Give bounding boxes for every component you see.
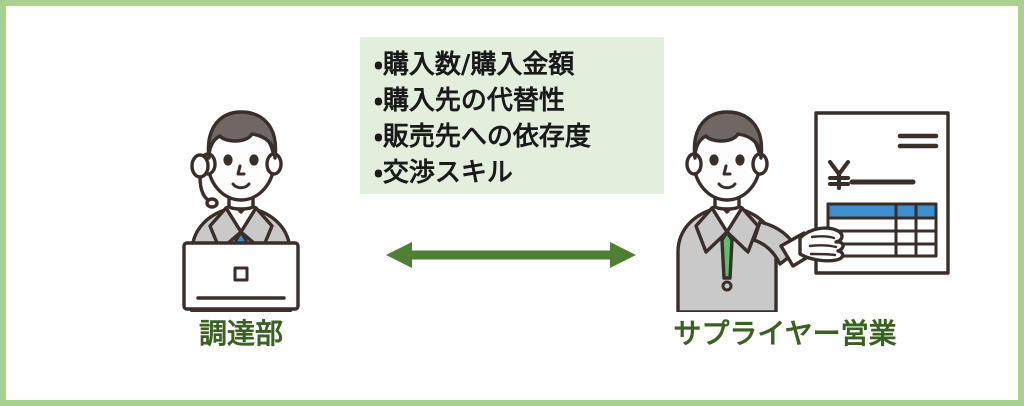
supplier-sales-rep-icon <box>648 100 958 312</box>
double-headed-arrow-icon <box>386 238 636 272</box>
negotiation-criteria-box: ・購入数/購入金額 ・購入先の代替性 ・販売先への依存度 ・交渉スキル <box>360 37 664 194</box>
eye-left <box>709 154 718 165</box>
criteria-item-4: ・交渉スキル <box>374 155 650 191</box>
hand-crease-3 <box>811 254 835 255</box>
headset-microphone <box>207 199 217 207</box>
eye-right <box>249 154 258 165</box>
criteria-item-3: ・販売先への依存度 <box>374 119 650 155</box>
criteria-item-2: ・購入先の代替性 <box>374 83 650 119</box>
necktie <box>722 232 732 278</box>
eye-left <box>223 154 232 165</box>
headset-boom-arm <box>200 177 210 201</box>
headset-earpiece <box>192 155 208 177</box>
eye-right <box>735 154 744 165</box>
criteria-item-1: ・購入数/購入金額 <box>374 47 650 83</box>
label-procurement-department: 調達部 <box>86 312 396 352</box>
procurement-officer-icon <box>148 100 334 312</box>
suit-button <box>723 282 731 290</box>
laptop-logo <box>235 268 247 280</box>
label-supplier-sales: サプライヤー営業 <box>620 312 950 352</box>
table-header-row <box>828 204 936 218</box>
diagram-canvas: ・購入数/購入金額 ・購入先の代替性 ・販売先への依存度 ・交渉スキル <box>0 0 1024 406</box>
